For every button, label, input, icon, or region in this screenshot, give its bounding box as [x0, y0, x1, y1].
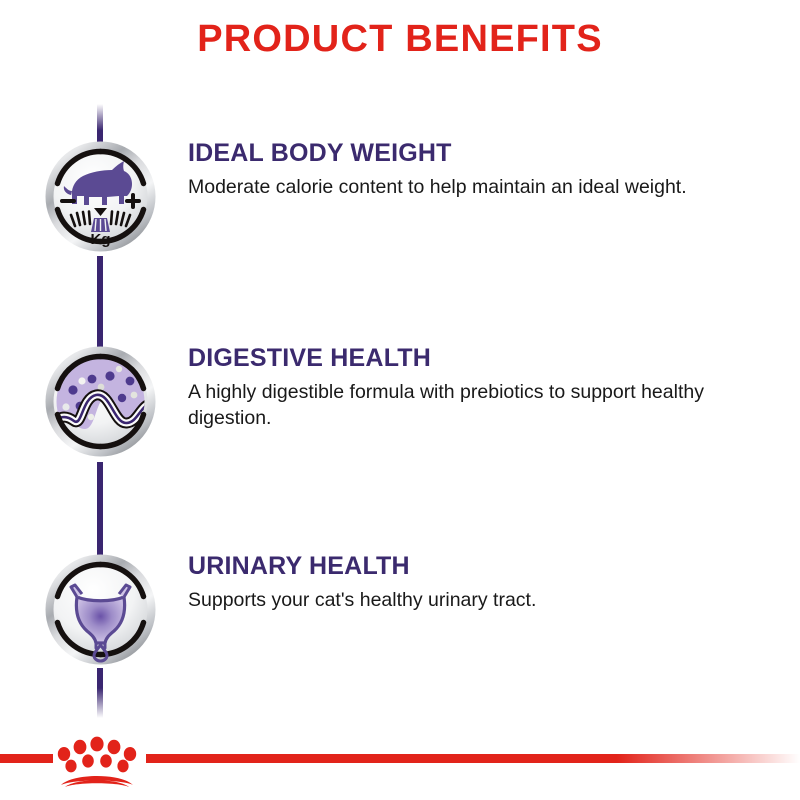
benefit-description: A highly digestible formula with prebiot…	[188, 379, 760, 433]
intestine-digestive-icon	[44, 345, 157, 458]
kg-unit-label: Kg	[91, 231, 111, 248]
benefit-heading: URINARY HEALTH	[188, 553, 768, 581]
product-benefits-page: PRODUCT BENEFITS	[0, 0, 800, 800]
royal-canin-crown-logo	[55, 735, 139, 787]
footer-rule-left	[0, 754, 53, 763]
benefit-heading: IDEAL BODY WEIGHT	[188, 140, 768, 168]
benefit-description: Supports your cat's healthy urinary trac…	[188, 587, 760, 614]
benefit-text-block: DIGESTIVE HEALTH A highly digestible for…	[188, 345, 768, 432]
connector-rail-segment-1	[97, 256, 103, 352]
benefit-text-block: URINARY HEALTH Supports your cat's healt…	[188, 553, 768, 613]
brand-footer	[0, 735, 800, 800]
bladder-urinary-icon	[44, 553, 157, 666]
benefit-description: Moderate calorie content to help maintai…	[188, 174, 760, 201]
connector-rail-segment-2	[97, 462, 103, 560]
connector-rail-bottom	[97, 668, 103, 718]
footer-rule-right	[146, 754, 800, 763]
benefit-heading: DIGESTIVE HEALTH	[188, 345, 768, 373]
benefit-text-block: IDEAL BODY WEIGHT Moderate calorie conte…	[188, 140, 768, 200]
page-title: PRODUCT BENEFITS	[0, 18, 800, 61]
cat-on-scale-icon: Kg	[44, 140, 157, 253]
